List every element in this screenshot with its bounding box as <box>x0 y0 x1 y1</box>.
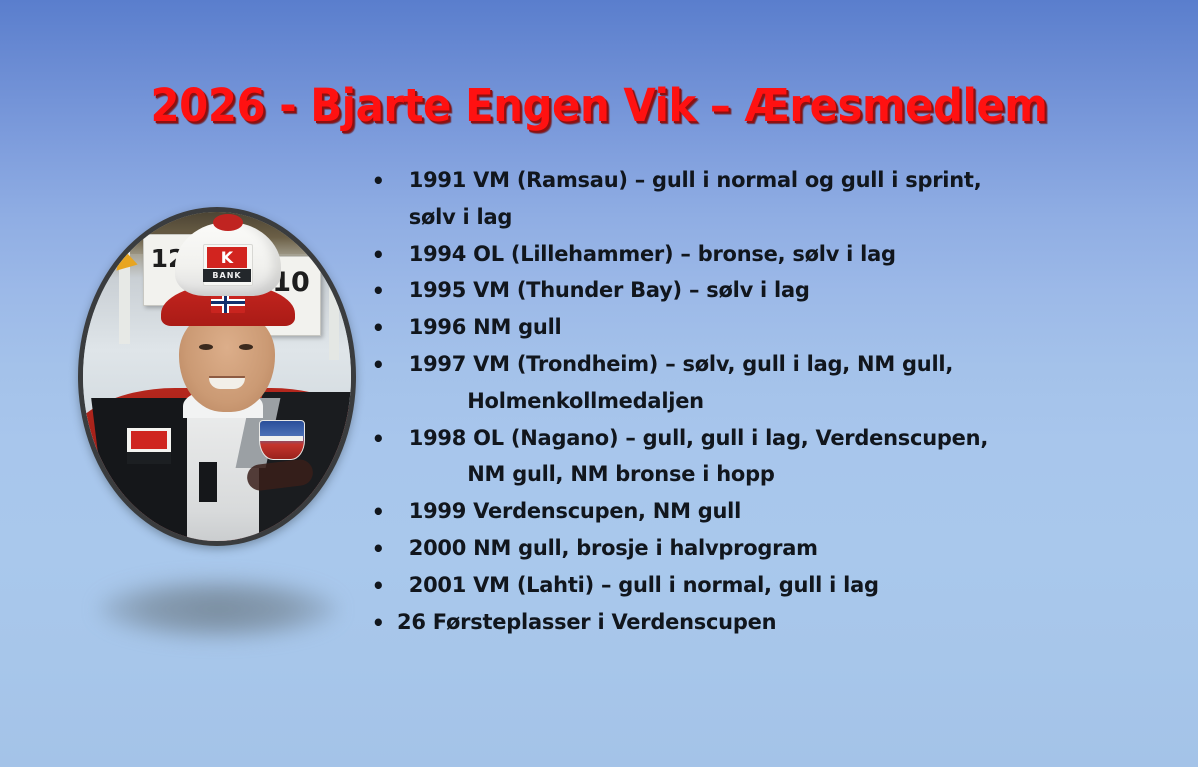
list-item: •1995 VM (Thunder Bay) – sølv i lag <box>360 273 1023 310</box>
list-item-line: 1991 VM (Ramsau) – gull i normal og gull… <box>409 163 1023 200</box>
beanie-pompom <box>213 214 243 231</box>
bullet-marker-icon: • <box>372 273 385 310</box>
photo-drop-shadow <box>98 578 338 640</box>
mouth <box>209 378 245 389</box>
list-item-line: NM gull, NM bronse i hopp <box>409 457 1023 494</box>
achievements-list: •1991 VM (Ramsau) – gull i normal og gul… <box>360 163 1040 641</box>
bullet-marker-icon: • <box>372 347 385 384</box>
bullet-marker-icon: • <box>372 494 385 531</box>
list-item: •2001 VM (Lahti) – gull i normal, gull i… <box>360 568 1023 605</box>
bullet-marker-icon: • <box>372 237 385 274</box>
bullet-marker-icon: • <box>372 531 385 568</box>
list-item-line: 1996 NM gull <box>409 310 1023 347</box>
cap-sponsor-k-icon: K <box>207 247 247 268</box>
list-item-line: 1997 VM (Trondheim) – sølv, gull i lag, … <box>409 347 1023 384</box>
list-item-line: 1994 OL (Lillehammer) – bronse, sølv i l… <box>409 237 1023 274</box>
bullet-marker-icon: • <box>372 568 385 605</box>
eye-left <box>199 344 213 350</box>
list-item: •1996 NM gull <box>360 310 1023 347</box>
list-item: •1999 Verdenscupen, NM gull <box>360 494 1023 531</box>
team-badge-band <box>259 436 303 441</box>
list-item: •2000 NM gull, brosje i halvprogram <box>360 531 1023 568</box>
list-item-line: 1995 VM (Thunder Bay) – sølv i lag <box>409 273 1023 310</box>
list-item-line: 2000 NM gull, brosje i halvprogram <box>409 531 1023 568</box>
list-item-line: Holmenkollmedaljen <box>409 384 1023 421</box>
list-item: •1994 OL (Lillehammer) – bronse, sølv i … <box>360 237 1023 274</box>
list-item: •26 Førsteplasser i Verdenscupen <box>360 605 1023 642</box>
list-item-line: 1998 OL (Nagano) – gull, gull i lag, Ver… <box>409 421 1023 458</box>
list-item-line: sølv i lag <box>409 200 1023 237</box>
list-item-line: 26 Førsteplasser i Verdenscupen <box>397 605 1023 642</box>
cap-sponsor-bank-label: BANK <box>203 269 251 282</box>
slide-canvas: 2026 - Bjarte Engen Vik – Æresmedlem 12 … <box>0 0 1198 767</box>
bib-post-right <box>329 274 339 360</box>
list-item: •1998 OL (Nagano) – gull, gull i lag, Ve… <box>360 421 1023 495</box>
list-item: •1991 VM (Ramsau) – gull i normal og gul… <box>360 163 1023 237</box>
flag-blue-horizontal <box>211 301 245 304</box>
bullet-marker-icon: • <box>372 421 385 458</box>
list-item-line: 1999 Verdenscupen, NM gull <box>409 494 1023 531</box>
list-item: •1997 VM (Trondheim) – sølv, gull i lag,… <box>360 347 1023 421</box>
bullet-marker-icon: • <box>372 605 385 642</box>
eye-right <box>239 344 253 350</box>
list-item-line: 2001 VM (Lahti) – gull i normal, gull i … <box>409 568 1023 605</box>
jacket-sponsor-k-icon <box>131 431 167 449</box>
bullet-marker-icon: • <box>372 310 385 347</box>
page-title: 2026 - Bjarte Engen Vik – Æresmedlem <box>42 80 1156 132</box>
jacket-dark-tab <box>199 462 217 502</box>
jacket-sponsor-bank-label <box>127 452 171 464</box>
athlete-portrait-photo: 12 10 K BANK <box>78 207 356 546</box>
bullet-marker-icon: • <box>372 163 385 200</box>
